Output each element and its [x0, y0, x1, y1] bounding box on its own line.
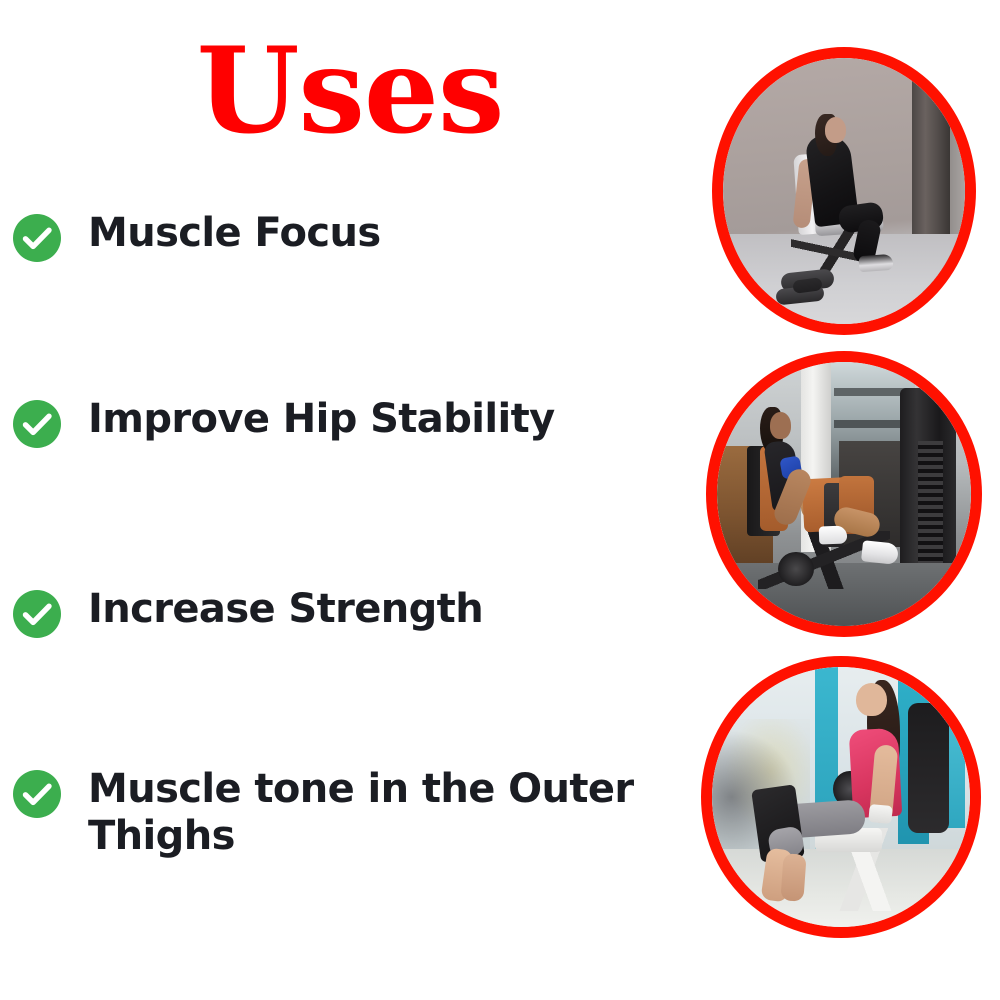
person-shoe [861, 540, 899, 565]
list-item-label: Muscle Focus [88, 210, 381, 257]
machine-pivot-plate [778, 552, 814, 586]
shelf-lower [834, 420, 910, 428]
shelf-upper [834, 388, 910, 396]
list-item: Muscle Focus [12, 210, 692, 263]
person-shoe [858, 254, 893, 272]
teal-column-far-right [947, 683, 965, 829]
person-shin-second [780, 853, 806, 901]
check-circle-icon [12, 769, 62, 819]
list-item-label: Increase Strength [88, 586, 483, 633]
person-shoe-rear [818, 525, 847, 544]
check-circle-icon [12, 213, 62, 263]
check-circle-icon [12, 589, 62, 639]
uses-infographic: Uses Muscle Focus Improve Hip Stability … [0, 0, 1000, 1000]
list-item-label: Muscle tone in the Outer Thighs [88, 766, 688, 860]
photo-scene [717, 362, 971, 626]
page-title: Uses [0, 32, 700, 150]
list-item: Muscle tone in the Outer Thighs [12, 766, 692, 860]
check-circle-icon [12, 399, 62, 449]
list-item-label: Improve Hip Stability [88, 396, 555, 443]
photo-hip-abduction-machine-black-outfit [712, 47, 976, 335]
weight-stack-plates [918, 441, 943, 562]
photo-scene [712, 667, 970, 927]
person-head [856, 683, 887, 717]
photo-scene [723, 58, 965, 324]
machine-backrest [908, 703, 949, 833]
list-item: Increase Strength [12, 586, 692, 639]
photo-hip-abductor-pink-tank [701, 656, 981, 938]
person-head [770, 412, 790, 438]
list-item: Improve Hip Stability [12, 396, 692, 449]
person-head [825, 117, 847, 144]
person-wristband [869, 804, 894, 824]
photo-hip-abductor-orange-pads [706, 351, 982, 637]
